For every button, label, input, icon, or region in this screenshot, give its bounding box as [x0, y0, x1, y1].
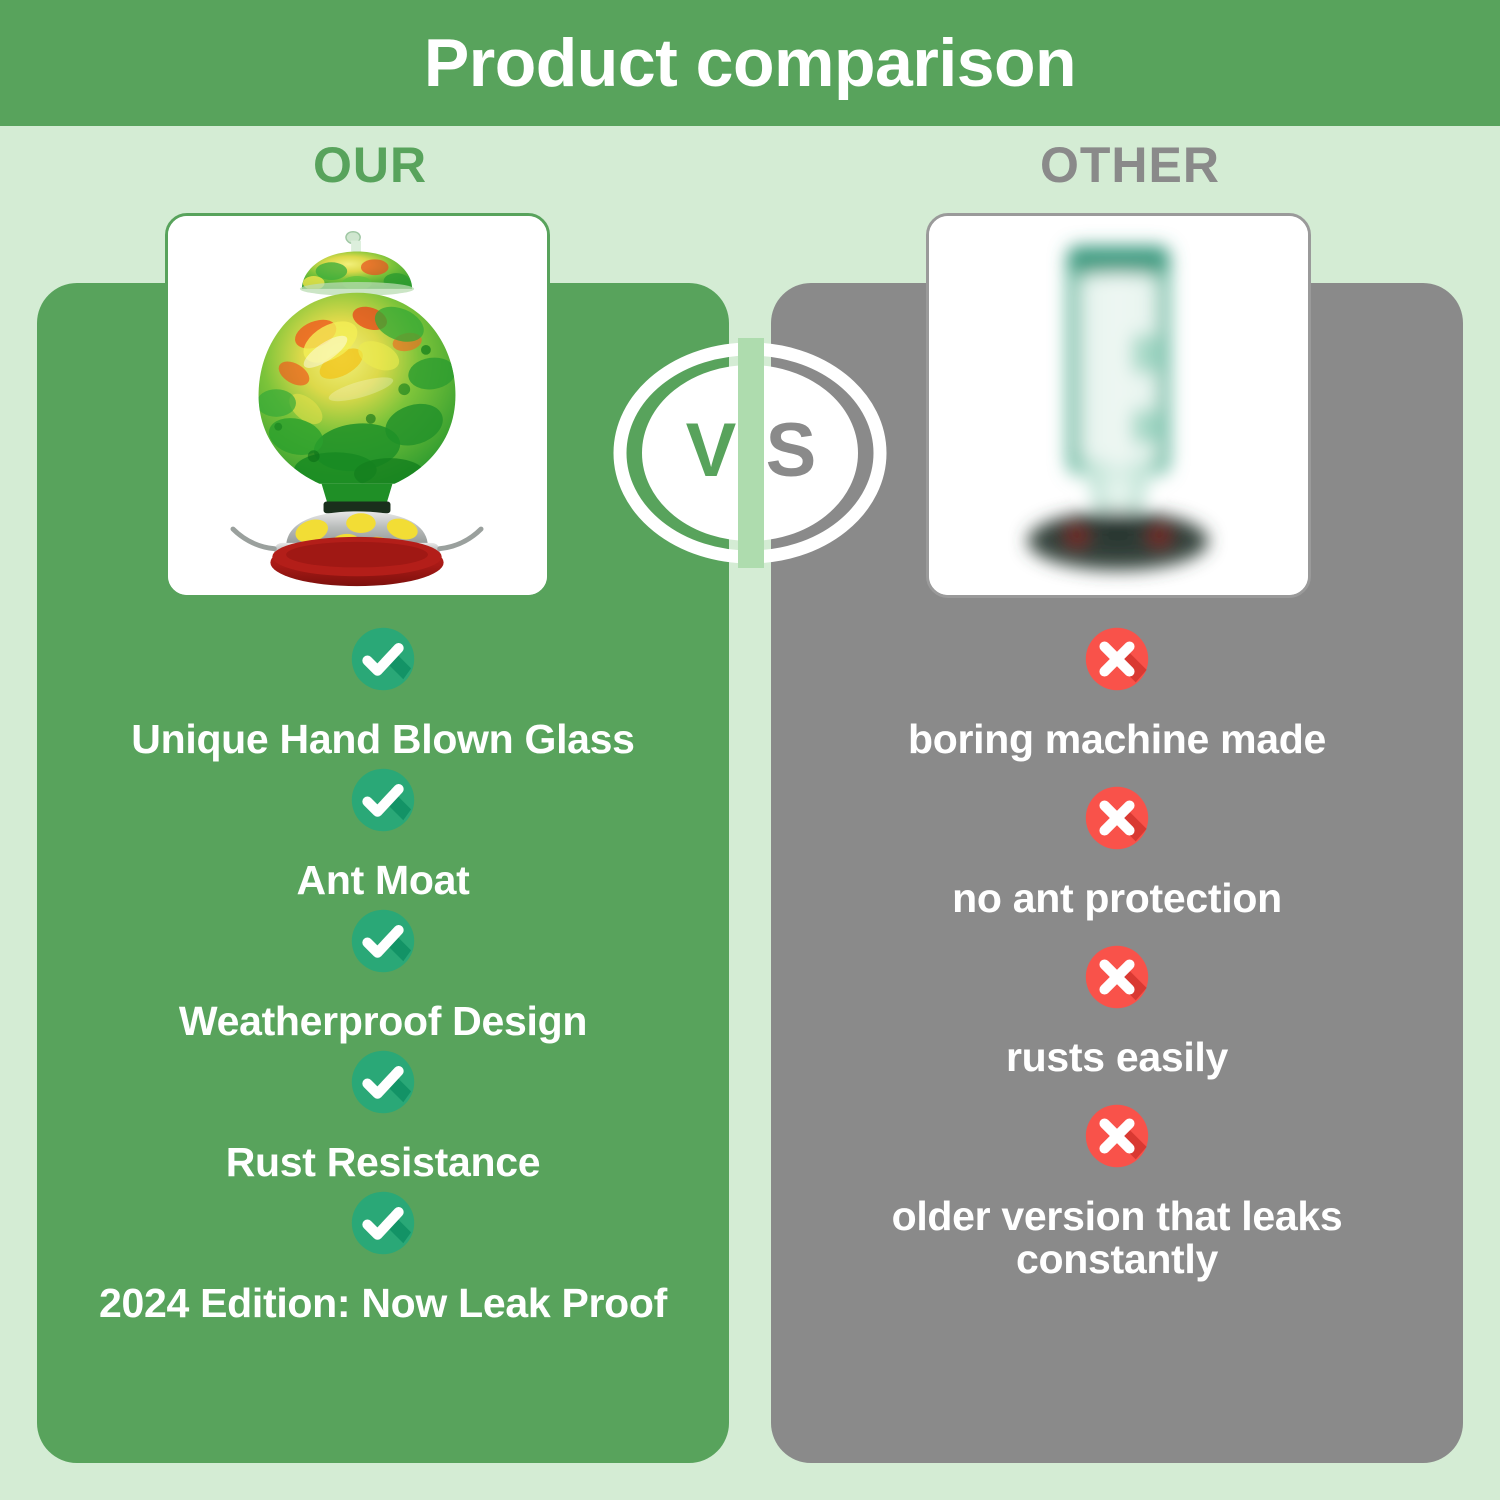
feature-label: no ant protection — [771, 877, 1463, 920]
product-card-our — [165, 213, 550, 598]
column-heading-our: OUR — [0, 140, 740, 190]
feature-row: rusts easily — [771, 938, 1463, 1079]
check-circle-icon — [344, 761, 422, 839]
column-heading-other: OTHER — [760, 140, 1500, 190]
feature-label: Weatherproof Design — [37, 1000, 729, 1043]
check-circle-icon — [344, 1043, 422, 1121]
x-circle-icon — [1078, 620, 1156, 698]
vs-right-letter: S — [766, 408, 817, 493]
product-image-other — [929, 216, 1308, 595]
x-circle-icon — [1078, 938, 1156, 1016]
product-image-our — [168, 216, 547, 595]
header-bar: Product comparison — [0, 0, 1500, 126]
feature-label: boring machine made — [771, 718, 1463, 761]
feature-row: older version that leaks constantly — [771, 1097, 1463, 1281]
vs-left-letter: V — [686, 408, 737, 493]
feature-label: Ant Moat — [37, 859, 729, 902]
check-circle-icon — [344, 620, 422, 698]
feature-row: boring machine made — [771, 620, 1463, 761]
feature-row: Unique Hand Blown Glass — [37, 620, 729, 761]
product-card-other — [926, 213, 1311, 598]
feature-list-other: boring machine made no ant protection ru… — [771, 620, 1463, 1281]
check-circle-icon — [344, 1184, 422, 1262]
check-circle-icon — [344, 902, 422, 980]
feature-row: no ant protection — [771, 779, 1463, 920]
x-circle-icon — [1078, 779, 1156, 857]
feature-row: Ant Moat — [37, 761, 729, 902]
feature-label: older version that leaks constantly — [771, 1195, 1463, 1281]
feature-label: Rust Resistance — [37, 1141, 729, 1184]
feature-list-our: Unique Hand Blown Glass Ant Moat Weather… — [37, 620, 729, 1325]
feature-row: 2024 Edition: Now Leak Proof — [37, 1184, 729, 1325]
feature-label: Unique Hand Blown Glass — [37, 718, 729, 761]
page-title: Product comparison — [424, 29, 1076, 97]
feature-label: rusts easily — [771, 1036, 1463, 1079]
comparison-infographic: Product comparison OUR OTHER — [0, 0, 1500, 1500]
feature-row: Weatherproof Design — [37, 902, 729, 1043]
vs-badge: V S — [605, 338, 895, 568]
feature-label: 2024 Edition: Now Leak Proof — [37, 1282, 729, 1325]
x-circle-icon — [1078, 1097, 1156, 1175]
feature-row: Rust Resistance — [37, 1043, 729, 1184]
